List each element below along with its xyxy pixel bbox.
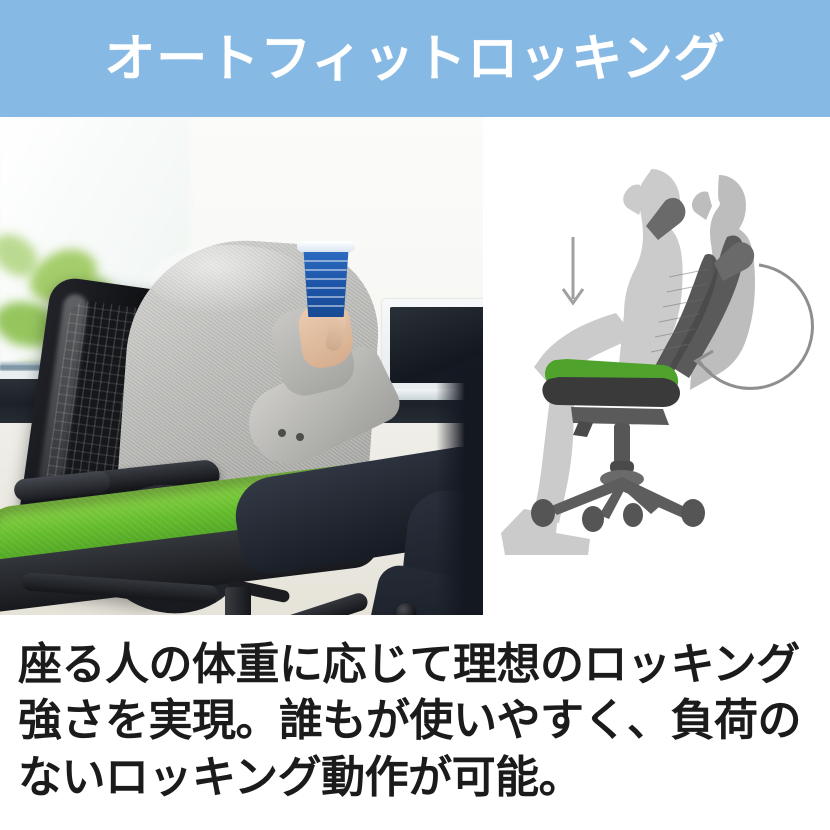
jacket-button <box>278 429 286 437</box>
product-feature-card: オートフィットロッキング <box>0 0 830 830</box>
media-row <box>0 117 830 615</box>
paper-cup-print <box>300 257 352 307</box>
caption-block: 座る人の体重に応じて理想のロッキング 強さを実現。誰もが使いやすく、負荷の ない… <box>0 615 830 830</box>
photo-right-shadow <box>436 367 483 615</box>
product-photo <box>0 117 483 615</box>
caption-line-1: 座る人の体重に応じて理想のロッキング <box>18 637 818 693</box>
header-banner: オートフィットロッキング <box>0 0 830 117</box>
chair-gas-cylinder <box>225 587 251 615</box>
down-arrow-icon <box>563 237 583 303</box>
caption-line-3: ないロッキング動作が可能。 <box>18 750 818 806</box>
paper-cup-rim <box>297 241 355 252</box>
jacket-button <box>296 433 304 441</box>
mechanism-illustration <box>483 117 830 615</box>
mechanism-diagram-svg <box>483 117 830 615</box>
jacket-highlight <box>150 245 310 315</box>
caption-text: 座る人の体重に応じて理想のロッキング 強さを実現。誰もが使いやすく、負荷の ない… <box>18 637 818 806</box>
page-title: オートフィットロッキング <box>104 33 725 84</box>
caption-line-2: 強さを実現。誰もが使いやすく、負荷の <box>18 693 818 749</box>
